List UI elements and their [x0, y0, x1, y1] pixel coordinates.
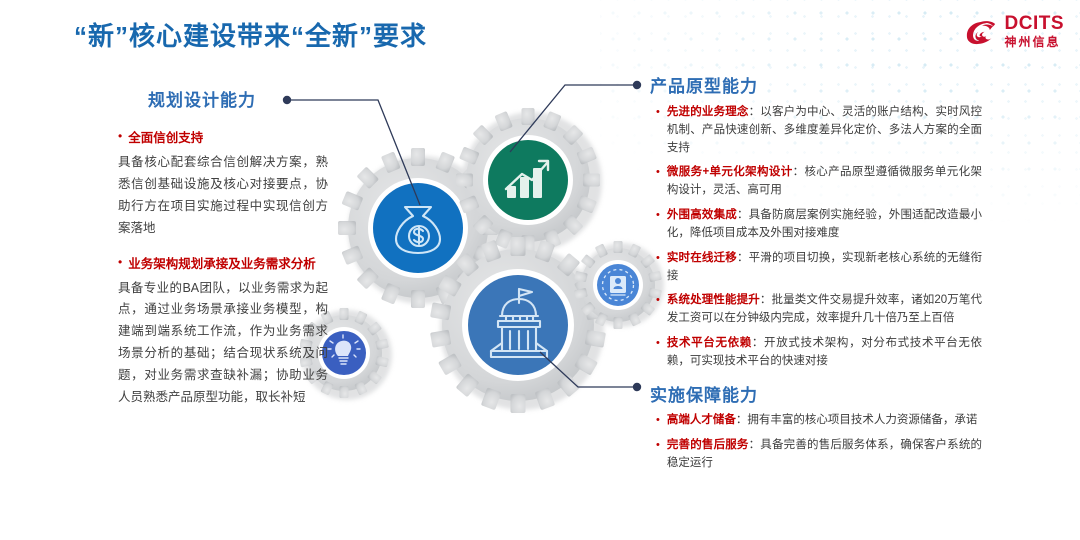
item-sep: ： — [760, 294, 772, 306]
list-item: • 先进的业务理念：以客户为中心、灵活的账户结构、实时风控机制、产品快速创新、多… — [652, 104, 982, 157]
item-title: 先进的业务理念 — [667, 106, 749, 118]
list-item: • 技术平台无依赖：开放式技术架构，对分布式技术平台无依赖，可实现技术平台的快速… — [652, 335, 982, 371]
bullet-title: 全面信创支持 — [128, 128, 328, 148]
bullet-row: • 业务架构规划承接及业务需求分析 — [118, 254, 328, 274]
item-body: 拥有丰富的核心项目技术人力资源储备，承诺 — [747, 414, 977, 426]
bullet-dot-icon: • — [118, 254, 122, 274]
item-sep: ： — [737, 252, 749, 264]
section-heading-planning: 规划设计能力 — [148, 86, 256, 111]
left-content-column: • 全面信创支持 具备核心配套综合信创解决方案，熟悉信创基础设施及核心对接要点，… — [118, 128, 328, 423]
gear-growth-chart — [456, 108, 600, 252]
item-title: 系统处理性能提升 — [667, 294, 760, 306]
bullet-row: • 全面信创支持 — [118, 128, 328, 148]
section-heading-product: 产品原型能力 — [650, 72, 758, 97]
list-item: • 微服务+单元化架构设计：核心产品原型遵循微服务单元化架构设计，灵活、高可用 — [652, 164, 982, 200]
item-title: 技术平台无依赖 — [667, 337, 752, 349]
item-title: 高端人才储备 — [667, 414, 736, 426]
bullet-dot-icon: • — [652, 250, 660, 286]
list-item: • 实时在线迁移：平滑的项目切换，实现新老核心系统的无缝衔接 — [652, 250, 982, 286]
product-capability-list: • 先进的业务理念：以客户为中心、灵活的账户结构、实时风控机制、产品快速创新、多… — [652, 104, 982, 378]
bullet-dot-icon: • — [652, 412, 660, 430]
bullet-body: 具备专业的BA团队，以业务需求为起点，通过业务场景承接业务模型，构建端到端系统工… — [118, 278, 328, 409]
bullet-body: 具备核心配套综合信创解决方案，熟悉信创基础设施及核心对接要点，协助行方在项目实施… — [118, 152, 328, 240]
item-sep: ： — [736, 414, 748, 426]
item-sep: ： — [749, 106, 761, 118]
dcits-swirl-icon — [963, 16, 999, 46]
implementation-guarantee-list: • 高端人才储备：拥有丰富的核心项目技术人力资源储备，承诺 • 完善的售后服务：… — [652, 412, 982, 479]
logo-text-cn: 神州信息 — [1005, 36, 1065, 48]
bullet-dot-icon: • — [118, 128, 122, 148]
item-sep: ： — [793, 166, 805, 178]
item-title: 外围高效集成 — [667, 209, 737, 221]
item-sep: ： — [749, 439, 761, 451]
left-bullet-group: • 业务架构规划承接及业务需求分析 具备专业的BA团队，以业务需求为起点，通过业… — [118, 254, 328, 409]
item-title: 完善的售后服务 — [667, 439, 749, 451]
bullet-dot-icon: • — [652, 164, 660, 200]
page-title: “新”核心建设带来“全新”要求 — [74, 16, 427, 53]
list-item: • 系统处理性能提升：批量类文件交易提升效率，诸如20万笔代发工资可以在分钟级内… — [652, 292, 982, 328]
slide-root: “新”核心建设带来“全新”要求 DCITS 神州信息 — [0, 0, 1080, 540]
list-item: • 高端人才储备：拥有丰富的核心项目技术人力资源储备，承诺 — [652, 412, 982, 430]
item-title: 微服务+单元化架构设计 — [667, 166, 793, 178]
list-item: • 外围高效集成：具备防腐层案例实施经验，外围适配改造最小化，降低项目成本及外围… — [652, 207, 982, 243]
bullet-dot-icon: • — [652, 104, 660, 157]
company-logo: DCITS 神州信息 — [963, 14, 1065, 48]
bullet-dot-icon: • — [652, 335, 660, 371]
bullet-dot-icon: • — [652, 292, 660, 328]
item-sep: ： — [737, 209, 749, 221]
bullet-title: 业务架构规划承接及业务需求分析 — [128, 254, 328, 274]
item-sep: ： — [752, 337, 764, 349]
gear-illustration — [300, 60, 680, 430]
connector-dot-left — [283, 96, 291, 104]
list-item: • 完善的售后服务：具备完善的售后服务体系，确保客户系统的稳定运行 — [652, 437, 982, 473]
item-title: 实时在线迁移 — [667, 252, 737, 264]
section-heading-implementation: 实施保障能力 — [650, 381, 758, 406]
bullet-dot-icon: • — [652, 437, 660, 473]
left-bullet-group: • 全面信创支持 具备核心配套综合信创解决方案，熟悉信创基础设施及核心对接要点，… — [118, 128, 328, 240]
bullet-dot-icon: • — [652, 207, 660, 243]
logo-text-en: DCITS — [1005, 14, 1065, 33]
